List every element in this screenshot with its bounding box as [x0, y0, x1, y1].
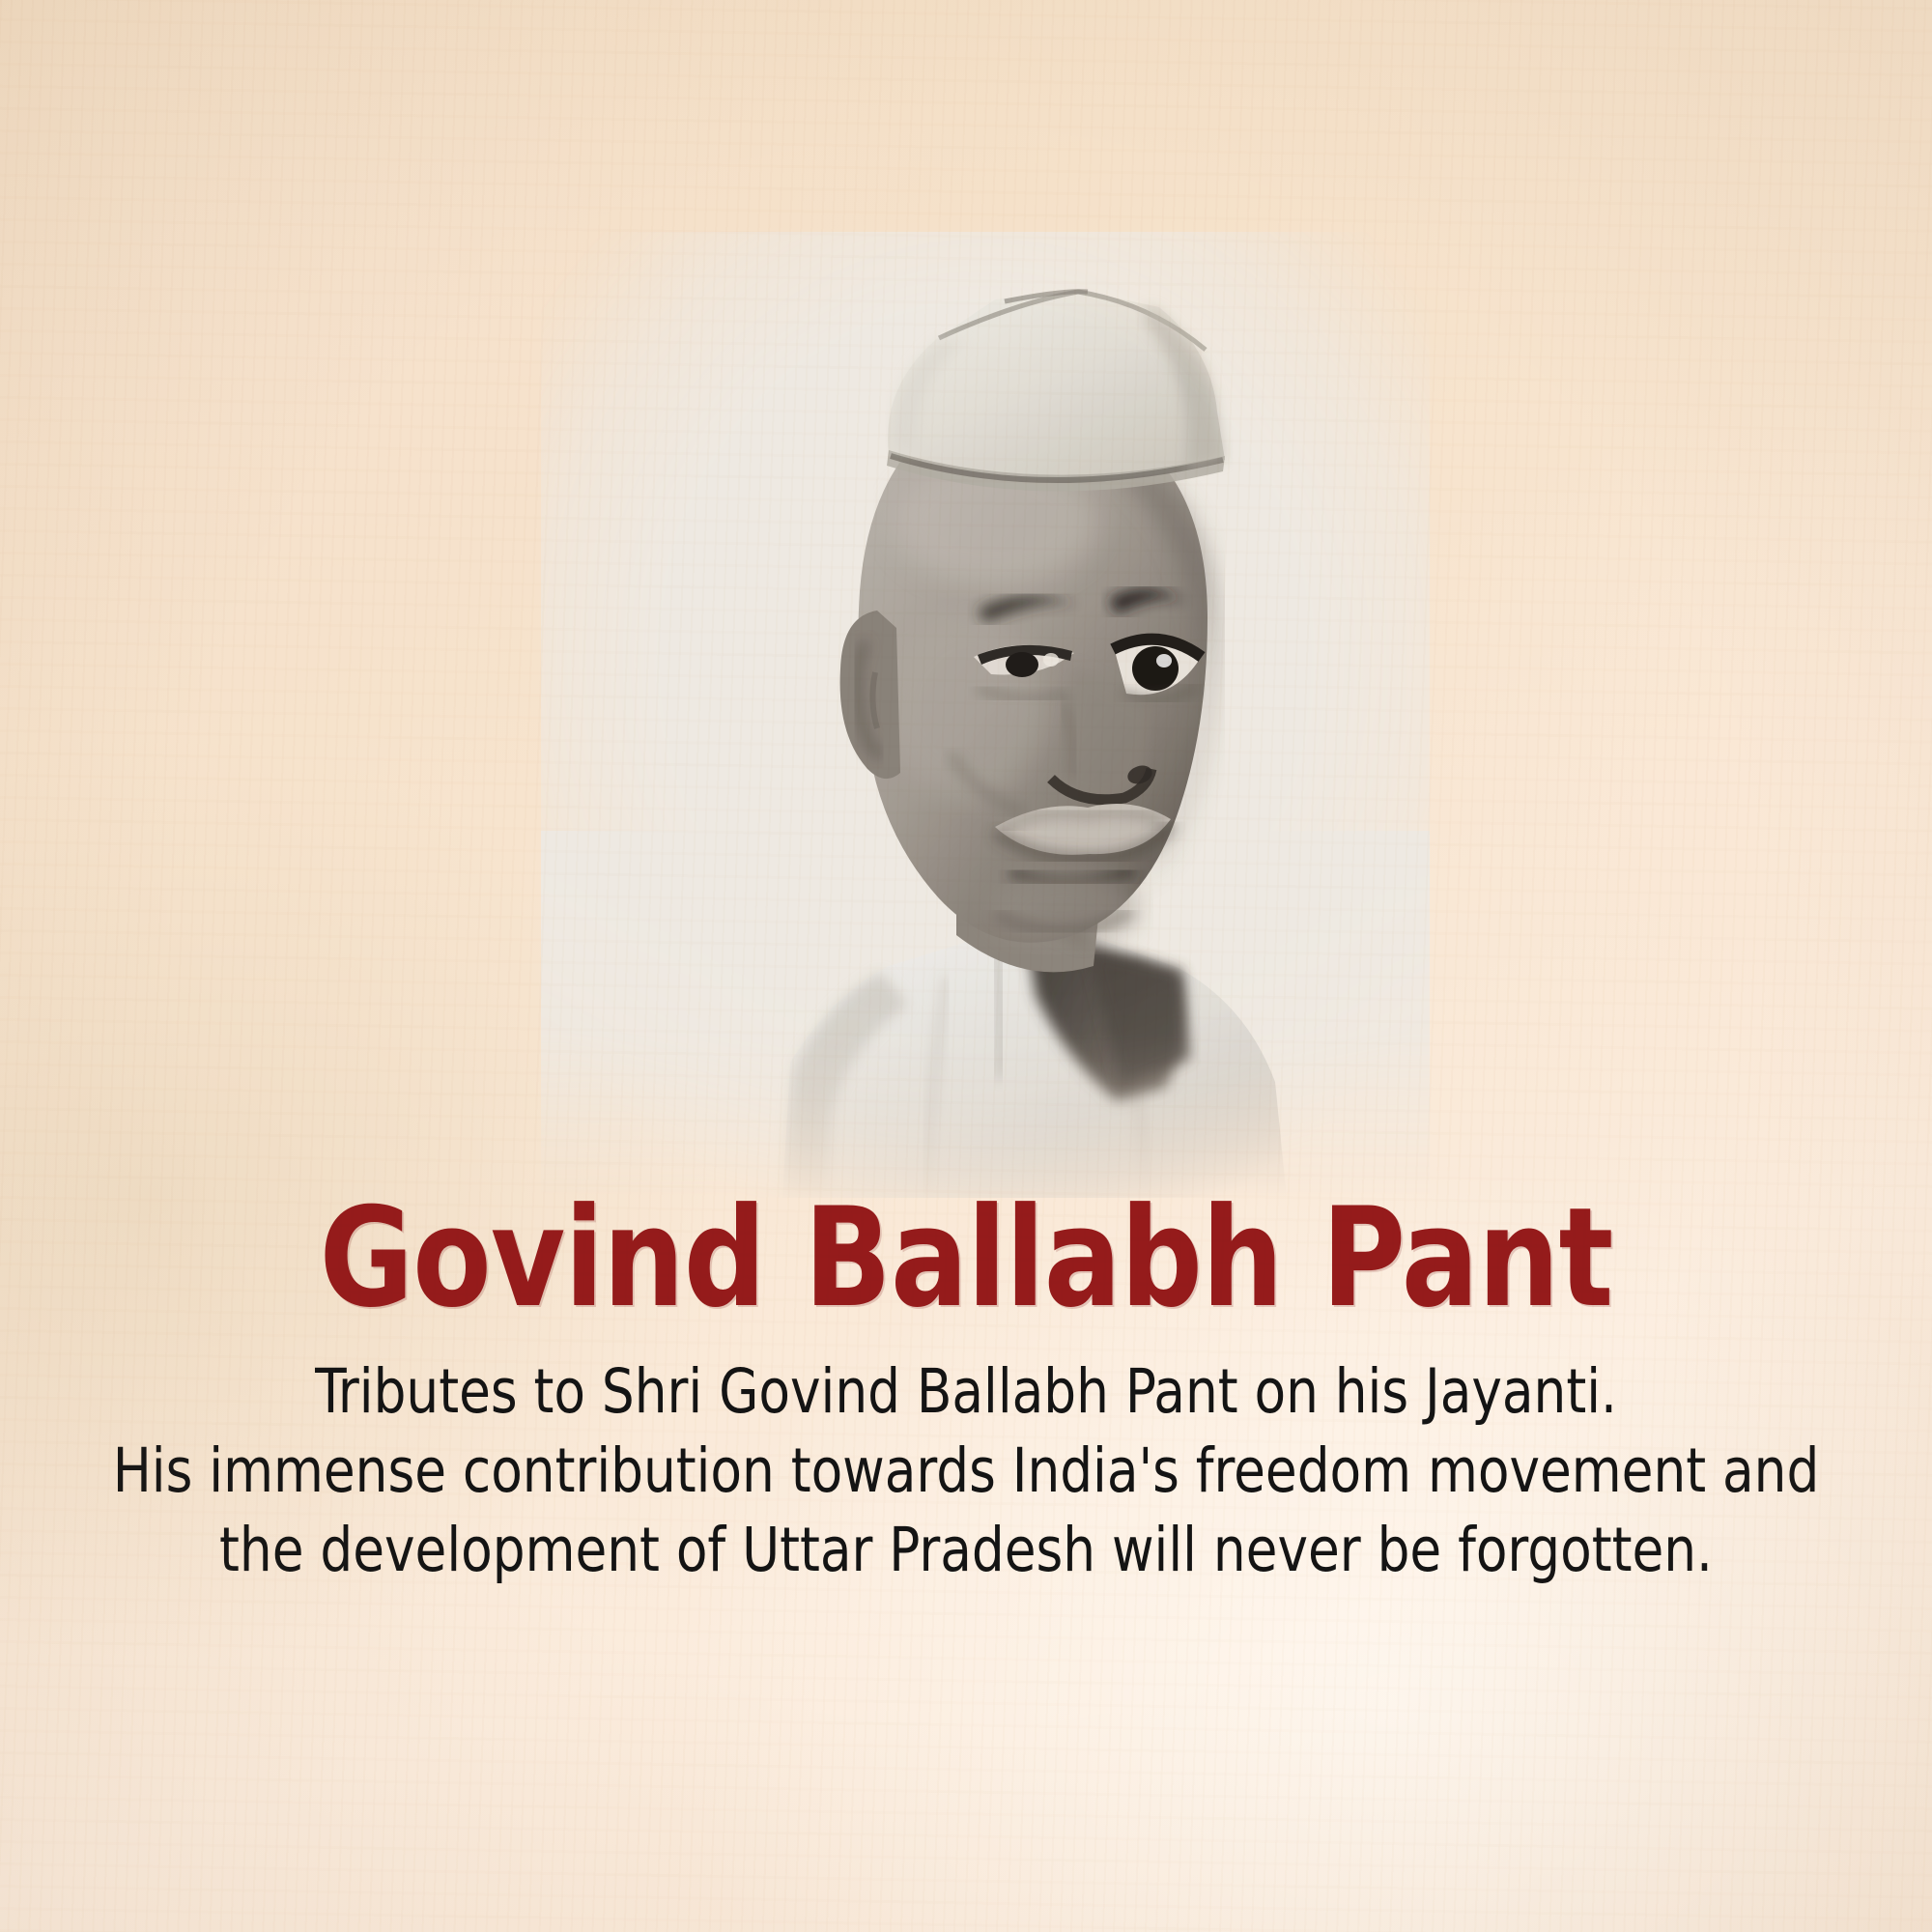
tribute-message: Tributes to Shri Govind Ballabh Pant on …: [58, 1352, 1874, 1590]
portrait-photo: [541, 232, 1430, 1198]
tribute-line-1: Tributes to Shri Govind Ballabh Pant on …: [58, 1352, 1874, 1432]
portrait-figure: [541, 232, 1430, 1198]
tribute-line-3: the development of Uttar Pradesh will ne…: [58, 1511, 1874, 1590]
page-title: Govind Ballabh Pant: [68, 1190, 1864, 1327]
caption-block: Govind Ballabh Pant Tributes to Shri Gov…: [0, 1190, 1932, 1590]
tribute-line-2: His immense contribution towards India's…: [58, 1432, 1874, 1511]
tribute-poster: Govind Ballabh Pant Tributes to Shri Gov…: [0, 0, 1932, 1932]
